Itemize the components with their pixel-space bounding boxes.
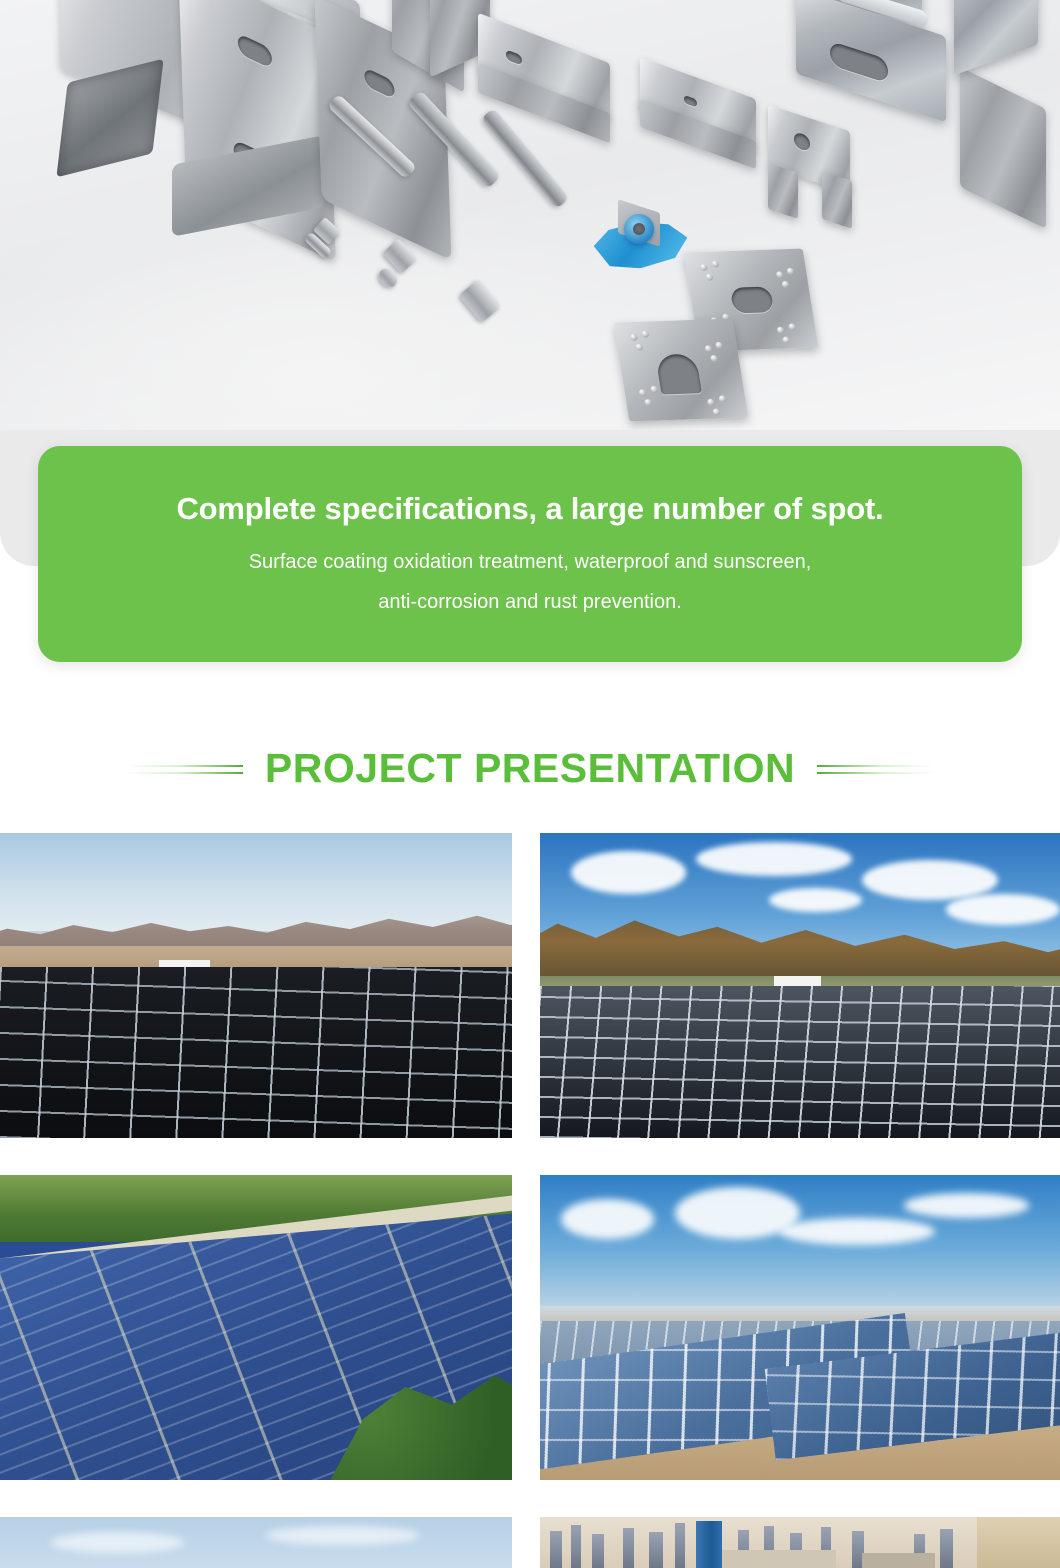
z-clamp-leg-left xyxy=(768,163,798,219)
flourish-right-icon xyxy=(817,758,935,780)
clip-washer xyxy=(624,214,654,244)
gallery-image-project-6[interactable] xyxy=(540,1517,1060,1568)
base-plate-slot xyxy=(830,41,888,84)
hex-head-bolt xyxy=(481,108,570,209)
channel-open-end xyxy=(56,59,163,178)
clip-nut xyxy=(633,223,645,235)
plate-oval-hole xyxy=(730,286,774,313)
gallery-image-project-4[interactable] xyxy=(540,1175,1060,1480)
gallery-image-project-5[interactable] xyxy=(0,1517,512,1568)
banner-subtitle-line-1: Surface coating oxidation treatment, wat… xyxy=(38,542,1022,582)
bracket-hole xyxy=(364,67,395,100)
product-feature-banner: Complete specifications, a large number … xyxy=(38,446,1022,662)
gallery-image-project-1[interactable] xyxy=(0,833,512,1138)
plate-keyhole-slot xyxy=(655,354,702,395)
stainless-mounting-plate-slot xyxy=(614,319,748,422)
project-gallery xyxy=(0,833,1060,1568)
banner-subtitle-line-2: anti-corrosion and rust prevention. xyxy=(38,582,1022,622)
section-title: PROJECT PRESENTATION xyxy=(265,745,795,792)
z-clamp-leg-right xyxy=(822,171,852,229)
product-photo xyxy=(0,0,1060,430)
banner-subtitle: Surface coating oxidation treatment, wat… xyxy=(38,526,1022,622)
clamp-hole xyxy=(794,131,810,152)
bolt-hex-head xyxy=(458,279,501,323)
gallery-image-project-3[interactable] xyxy=(0,1175,512,1480)
product-hero-section: Complete specifications, a large number … xyxy=(0,0,1060,700)
banner-title: Complete specifications, a large number … xyxy=(38,446,1022,526)
clamp-hole xyxy=(684,95,697,108)
flourish-left-icon xyxy=(125,758,243,780)
project-presentation-heading: PROJECT PRESENTATION xyxy=(0,716,1060,821)
galvanized-post-base-rear xyxy=(954,0,1038,75)
bracket-hole xyxy=(238,33,273,69)
angle-plate-far-right xyxy=(960,67,1046,229)
clamp-hole xyxy=(506,49,522,65)
gallery-image-project-2[interactable] xyxy=(540,833,1060,1138)
